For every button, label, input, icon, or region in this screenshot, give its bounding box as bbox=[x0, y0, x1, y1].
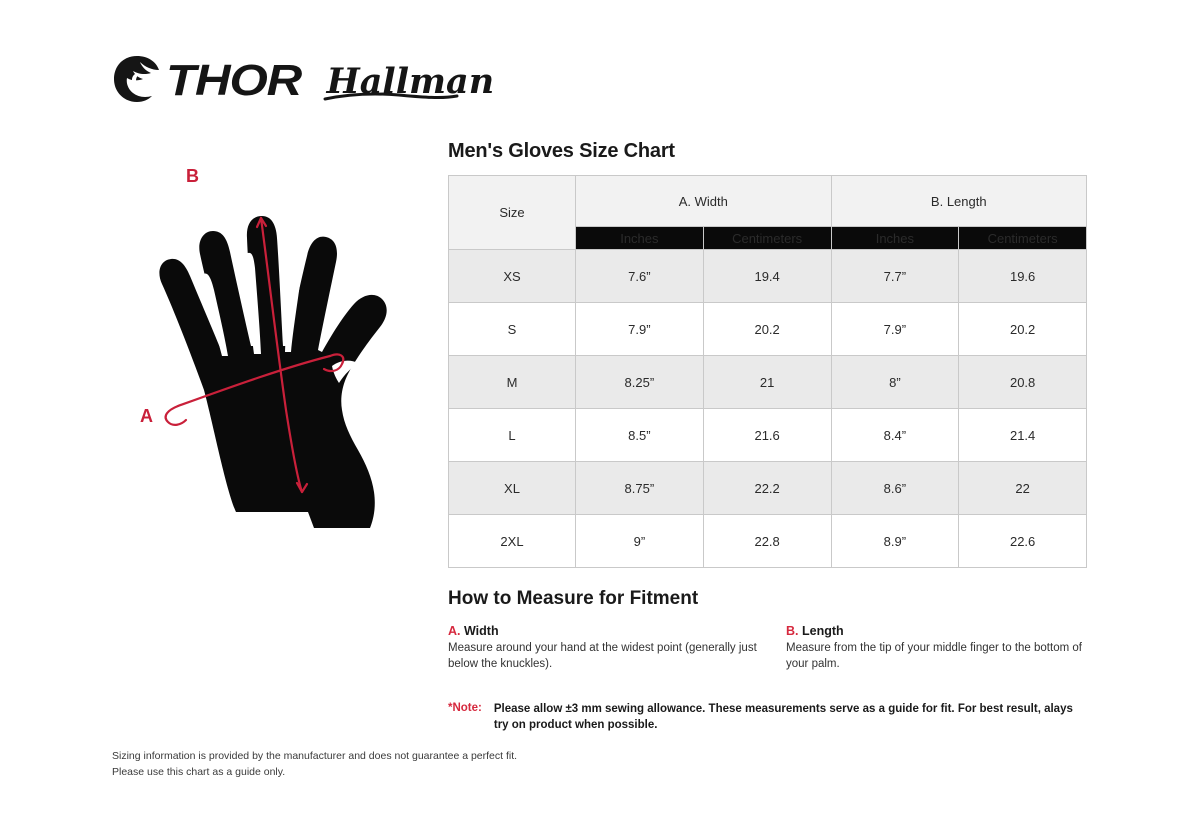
measure-length-text: Measure from the tip of your middle fing… bbox=[786, 641, 1096, 672]
table-row: S 7.9” 20.2 7.9” 20.2 bbox=[449, 303, 1087, 356]
measure-length-name: Length bbox=[802, 624, 844, 638]
cell-length-centimeters: 21.4 bbox=[959, 409, 1087, 462]
measure-length-letter: B. bbox=[786, 624, 799, 638]
cell-length-centimeters: 22 bbox=[959, 462, 1087, 515]
cell-width-inches: 7.6” bbox=[576, 250, 704, 303]
cell-width-centimeters: 19.4 bbox=[703, 250, 831, 303]
footer-line-2: Please use this chart as a guide only. bbox=[112, 764, 517, 780]
cell-width-centimeters: 21.6 bbox=[703, 409, 831, 462]
column-header-width-centimeters: Centimeters bbox=[703, 227, 831, 250]
cell-length-inches: 8.4” bbox=[831, 409, 959, 462]
measure-width-text: Measure around your hand at the widest p… bbox=[448, 641, 758, 672]
hallman-wordmark: Hallman bbox=[327, 61, 495, 102]
column-header-length-centimeters: Centimeters bbox=[959, 227, 1087, 250]
table-row: M 8.25” 21 8” 20.8 bbox=[449, 356, 1087, 409]
measure-width-name: Width bbox=[464, 624, 499, 638]
cell-length-inches: 8” bbox=[831, 356, 959, 409]
cell-size: M bbox=[449, 356, 576, 409]
measure-width-heading: A. Width bbox=[448, 624, 758, 638]
cell-width-inches: 7.9” bbox=[576, 303, 704, 356]
footer-line-1: Sizing information is provided by the ma… bbox=[112, 748, 517, 764]
cell-width-centimeters: 21 bbox=[703, 356, 831, 409]
cell-size: L bbox=[449, 409, 576, 462]
measure-label-b: B bbox=[186, 166, 199, 186]
column-header-length-inches: Inches bbox=[831, 227, 959, 250]
cell-size: XL bbox=[449, 462, 576, 515]
column-header-width-inches: Inches bbox=[576, 227, 704, 250]
cell-length-inches: 7.7” bbox=[831, 250, 959, 303]
measure-label-a: A bbox=[140, 406, 153, 426]
table-row: 2XL 9” 22.8 8.9” 22.6 bbox=[449, 515, 1087, 568]
cell-width-centimeters: 22.8 bbox=[703, 515, 831, 568]
cell-length-centimeters: 20.8 bbox=[959, 356, 1087, 409]
note-label: *Note: bbox=[448, 702, 482, 733]
table-row: XL 8.75” 22.2 8.6” 22 bbox=[449, 462, 1087, 515]
table-row: L 8.5” 21.6 8.4” 21.4 bbox=[449, 409, 1087, 462]
table-row: XS 7.6” 19.4 7.7” 19.6 bbox=[449, 250, 1087, 303]
cell-length-inches: 8.6” bbox=[831, 462, 959, 515]
cell-length-centimeters: 22.6 bbox=[959, 515, 1087, 568]
measure-block-width: A. Width Measure around your hand at the… bbox=[448, 624, 758, 672]
cell-length-centimeters: 19.6 bbox=[959, 250, 1087, 303]
brand-logo-bar: THOR Hallman bbox=[112, 52, 494, 110]
cell-size: S bbox=[449, 303, 576, 356]
cell-size: XS bbox=[449, 250, 576, 303]
note-row: *Note: Please allow ±3 mm sewing allowan… bbox=[448, 702, 1078, 733]
hand-measurement-illustration: B A bbox=[118, 160, 448, 550]
column-header-size: Size bbox=[449, 176, 576, 250]
hallman-logo: Hallman bbox=[327, 64, 495, 99]
column-group-width: A. Width bbox=[576, 176, 832, 227]
note-text: Please allow ±3 mm sewing allowance. The… bbox=[494, 702, 1078, 733]
cell-length-inches: 8.9” bbox=[831, 515, 959, 568]
thor-helmet-icon bbox=[112, 54, 164, 109]
cell-width-centimeters: 20.2 bbox=[703, 303, 831, 356]
cell-width-centimeters: 22.2 bbox=[703, 462, 831, 515]
page-title: Men's Gloves Size Chart bbox=[448, 140, 675, 163]
measure-length-heading: B. Length bbox=[786, 624, 1096, 638]
cell-size: 2XL bbox=[449, 515, 576, 568]
table-header-groups: Size A. Width B. Length bbox=[449, 176, 1087, 227]
cell-width-inches: 8.5” bbox=[576, 409, 704, 462]
cell-length-inches: 7.9” bbox=[831, 303, 959, 356]
cell-width-inches: 8.75” bbox=[576, 462, 704, 515]
cell-width-inches: 9” bbox=[576, 515, 704, 568]
measure-width-letter: A. bbox=[448, 624, 461, 638]
footer-disclaimer: Sizing information is provided by the ma… bbox=[112, 748, 517, 781]
thor-logo: THOR bbox=[112, 54, 287, 109]
how-to-measure-title: How to Measure for Fitment bbox=[448, 588, 698, 610]
cell-length-centimeters: 20.2 bbox=[959, 303, 1087, 356]
cell-width-inches: 8.25” bbox=[576, 356, 704, 409]
size-chart-table: Size A. Width B. Length Inches Centimete… bbox=[448, 175, 1087, 568]
measure-block-length: B. Length Measure from the tip of your m… bbox=[786, 624, 1096, 672]
column-group-length: B. Length bbox=[831, 176, 1087, 227]
thor-wordmark: THOR bbox=[166, 59, 301, 103]
